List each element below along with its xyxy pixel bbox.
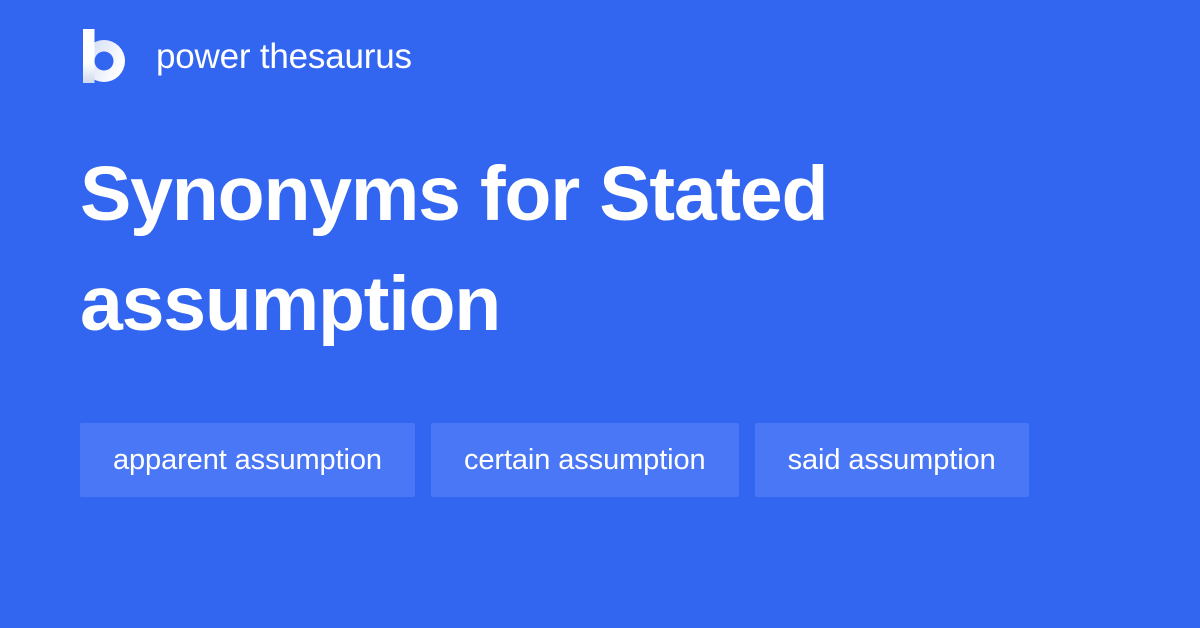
- power-thesaurus-logo-icon: [80, 29, 126, 83]
- synonym-chip-list: apparent assumption certain assumption s…: [80, 423, 1080, 497]
- synonym-chip[interactable]: certain assumption: [431, 423, 739, 497]
- brand-header[interactable]: power thesaurus: [80, 28, 412, 84]
- page-title: Synonyms for Stated assumption: [80, 139, 980, 359]
- synonym-chip[interactable]: apparent assumption: [80, 423, 415, 497]
- synonym-chip[interactable]: said assumption: [755, 423, 1029, 497]
- brand-name: power thesaurus: [156, 39, 412, 74]
